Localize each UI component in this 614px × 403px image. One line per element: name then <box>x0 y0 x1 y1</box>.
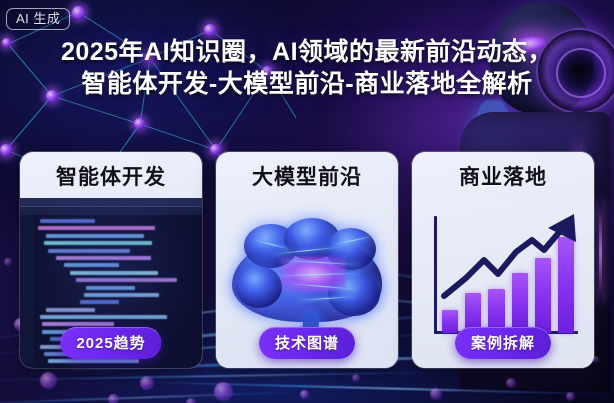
headline-line-2: 智能体开发-大模型前沿-商业落地全解析 <box>26 68 588 100</box>
page-title: 2025年AI知识圈，AI领域的最新前沿动态， 智能体开发-大模型前沿-商业落地… <box>0 36 614 100</box>
card-pill-badge[interactable]: 技术图谱 <box>259 327 355 359</box>
mesh-node <box>134 118 145 129</box>
card-pill-badge[interactable]: 案例拆解 <box>455 327 551 359</box>
card-large-model-frontier[interactable]: 大模型前沿 <box>216 152 398 368</box>
mesh-node <box>72 6 85 19</box>
poster-canvas: AI 生成 2025年AI知识圈，AI领域的最新前沿动态， 智能体开发-大模型前… <box>0 0 614 403</box>
card-business-landing[interactable]: 商业落地 案例拆解 <box>412 152 594 368</box>
ai-generated-badge: AI 生成 <box>6 8 70 30</box>
mesh-node <box>204 24 216 36</box>
headline-line-1: 2025年AI知识圈，AI领域的最新前沿动态， <box>61 38 553 66</box>
trend-arrow-icon <box>436 212 582 324</box>
card-pill-badge[interactable]: 2025趋势 <box>60 327 161 359</box>
card-row: 智能体开发 <box>0 152 614 370</box>
card-title: 商业落地 <box>459 161 547 191</box>
card-title: 智能体开发 <box>56 161 166 191</box>
card-title: 大模型前沿 <box>252 161 362 191</box>
card-agent-development[interactable]: 智能体开发 <box>20 152 202 368</box>
